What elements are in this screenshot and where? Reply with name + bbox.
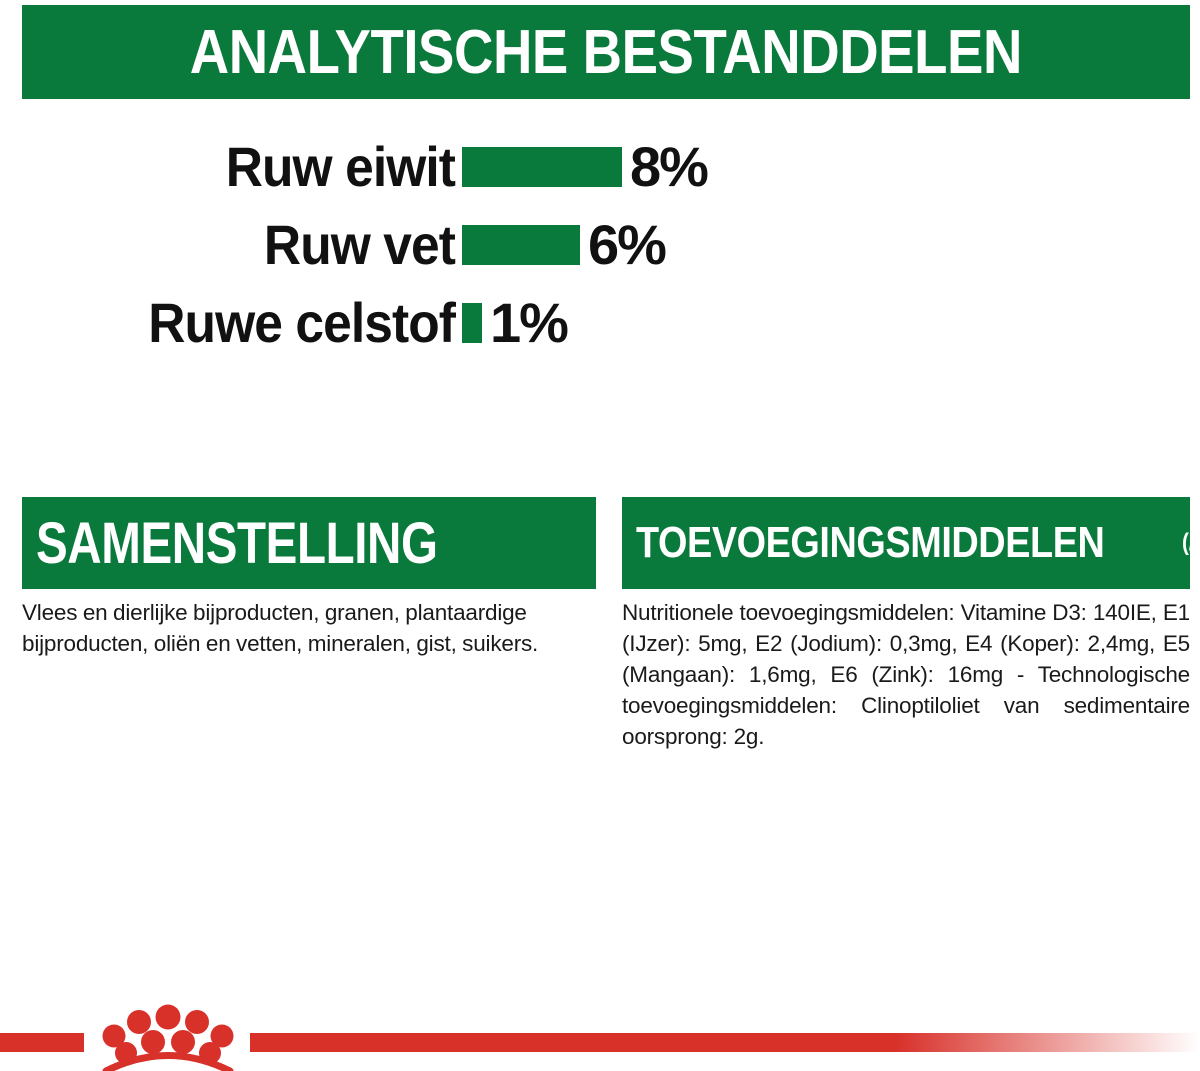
- chart-value-fibre: 1%: [490, 295, 567, 351]
- chart-value-fat: 6%: [588, 217, 665, 273]
- chart-bar-wrap: 6%: [462, 217, 665, 273]
- footer-rule-right: [250, 1033, 1200, 1052]
- chart-row: Ruw eiwit 8%: [0, 128, 1200, 206]
- chart-label-protein: Ruw eiwit: [36, 139, 455, 195]
- chart-label-fat: Ruw vet: [36, 217, 455, 273]
- chart-label-fibre: Ruwe celstof: [36, 295, 455, 351]
- additives-heading: TOEVOEGINGSMIDDELEN: [636, 518, 1104, 568]
- page-title: ANALYTISCHE BESTANDDELEN: [190, 17, 1022, 88]
- footer-logo: [0, 1000, 1200, 1071]
- analytical-constituents-banner: ANALYTISCHE BESTANDDELEN: [22, 5, 1190, 99]
- chart-row: Ruwe celstof 1%: [0, 284, 1200, 362]
- chart-bar-wrap: 1%: [462, 295, 567, 351]
- chart-row: Ruw vet 6%: [0, 206, 1200, 284]
- footer-rule-left: [0, 1033, 84, 1052]
- composition-section: SAMENSTELLING Vlees en dierlijke bijprod…: [22, 497, 596, 659]
- additives-banner: TOEVOEGINGSMIDDELEN (/kg): [622, 497, 1190, 589]
- chart-bar-wrap: 8%: [462, 139, 707, 195]
- chart-bar-fat: [462, 225, 580, 265]
- chart-value-protein: 8%: [630, 139, 707, 195]
- composition-heading: SAMENSTELLING: [36, 510, 438, 577]
- composition-text: Vlees en dierlijke bijproducten, granen,…: [22, 597, 596, 659]
- additives-section: TOEVOEGINGSMIDDELEN (/kg) Nutritionele t…: [622, 497, 1190, 752]
- chart-bar-fibre: [462, 303, 482, 343]
- analytical-constituents-chart: Ruw eiwit 8% Ruw vet 6% Ruwe celstof 1%: [0, 128, 1200, 362]
- additives-heading-unit: (/kg): [1182, 529, 1200, 557]
- composition-banner: SAMENSTELLING: [22, 497, 596, 589]
- additives-text: Nutritionele toevoegingsmiddelen: Vitami…: [622, 597, 1190, 752]
- chart-bar-protein: [462, 147, 622, 187]
- royal-canin-crown-icon: [92, 1000, 244, 1071]
